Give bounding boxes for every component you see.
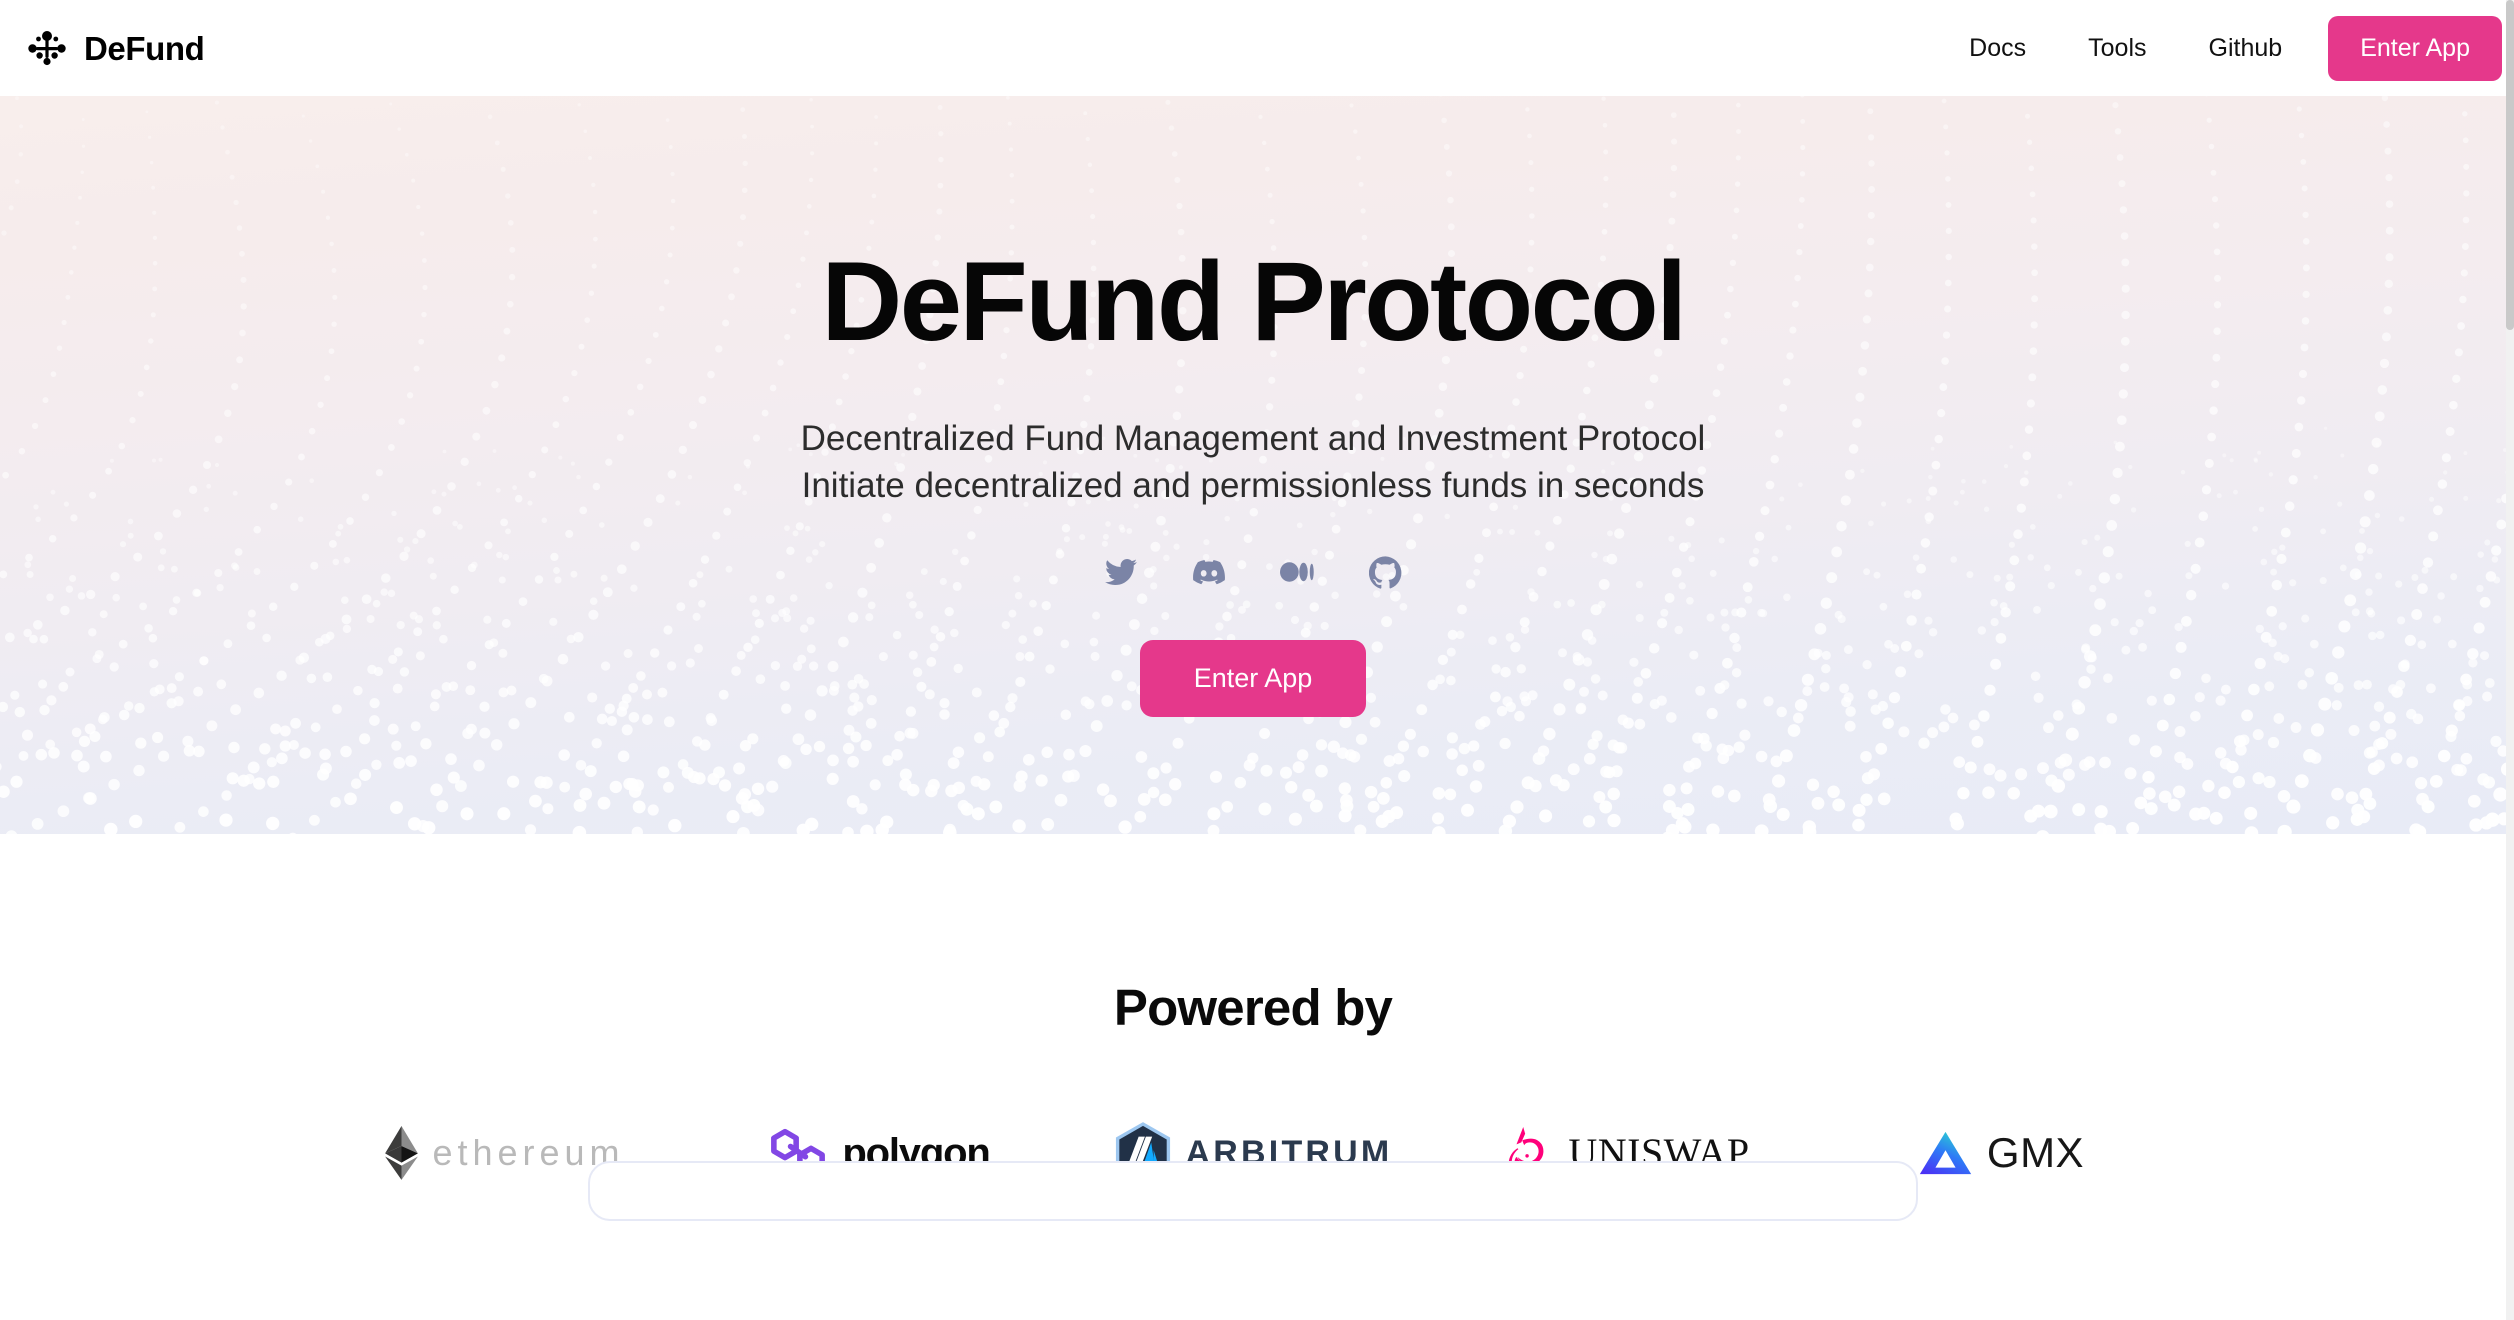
site-header: DeFund Docs Tools Github Enter App	[0, 0, 2506, 96]
hero-section: DeFund Protocol Decentralized Fund Manag…	[0, 96, 2506, 834]
nav-link-tools[interactable]: Tools	[2057, 36, 2177, 61]
page-scrollbar-thumb[interactable]	[2506, 0, 2514, 330]
medium-icon[interactable]	[1277, 552, 1317, 592]
hero-subtitle-line-1: Decentralized Fund Management and Invest…	[801, 416, 1706, 463]
github-icon[interactable]	[1365, 552, 1405, 592]
hero-subtitle: Decentralized Fund Management and Invest…	[801, 416, 1706, 510]
header-enter-app-button[interactable]: Enter App	[2328, 16, 2502, 81]
powered-by-section: Powered by ethereum	[0, 834, 2506, 1185]
hero-title: DeFund Protocol	[821, 244, 1684, 360]
nav-link-docs[interactable]: Docs	[1938, 36, 2057, 61]
page-scrollbar[interactable]	[2506, 0, 2514, 1320]
brand-logo[interactable]: DeFund	[26, 27, 204, 69]
main-navigation: Docs Tools Github Enter App	[1938, 0, 2506, 96]
partner-logo-label-gmx: GMX	[1987, 1132, 2084, 1174]
page-viewport: DeFund Docs Tools Github Enter App	[0, 0, 2506, 1320]
hero-subtitle-line-2: Initiate decentralized and permissionles…	[801, 463, 1706, 510]
defund-node-cluster-icon	[26, 27, 68, 69]
twitter-icon[interactable]	[1101, 552, 1141, 592]
powered-by-title: Powered by	[0, 982, 2506, 1033]
hero-content: DeFund Protocol Decentralized Fund Manag…	[0, 96, 2506, 717]
next-section-card-peek	[588, 1161, 1918, 1221]
hero-enter-app-button[interactable]: Enter App	[1140, 640, 1367, 717]
page-root: DeFund Docs Tools Github Enter App	[0, 0, 2514, 1320]
discord-icon[interactable]	[1189, 552, 1229, 592]
ethereum-logo-icon	[385, 1126, 418, 1180]
nav-link-github[interactable]: Github	[2178, 36, 2314, 61]
gmx-logo-icon	[1918, 1130, 1973, 1176]
hero-social-links	[1101, 552, 1405, 592]
brand-name: DeFund	[84, 32, 204, 65]
